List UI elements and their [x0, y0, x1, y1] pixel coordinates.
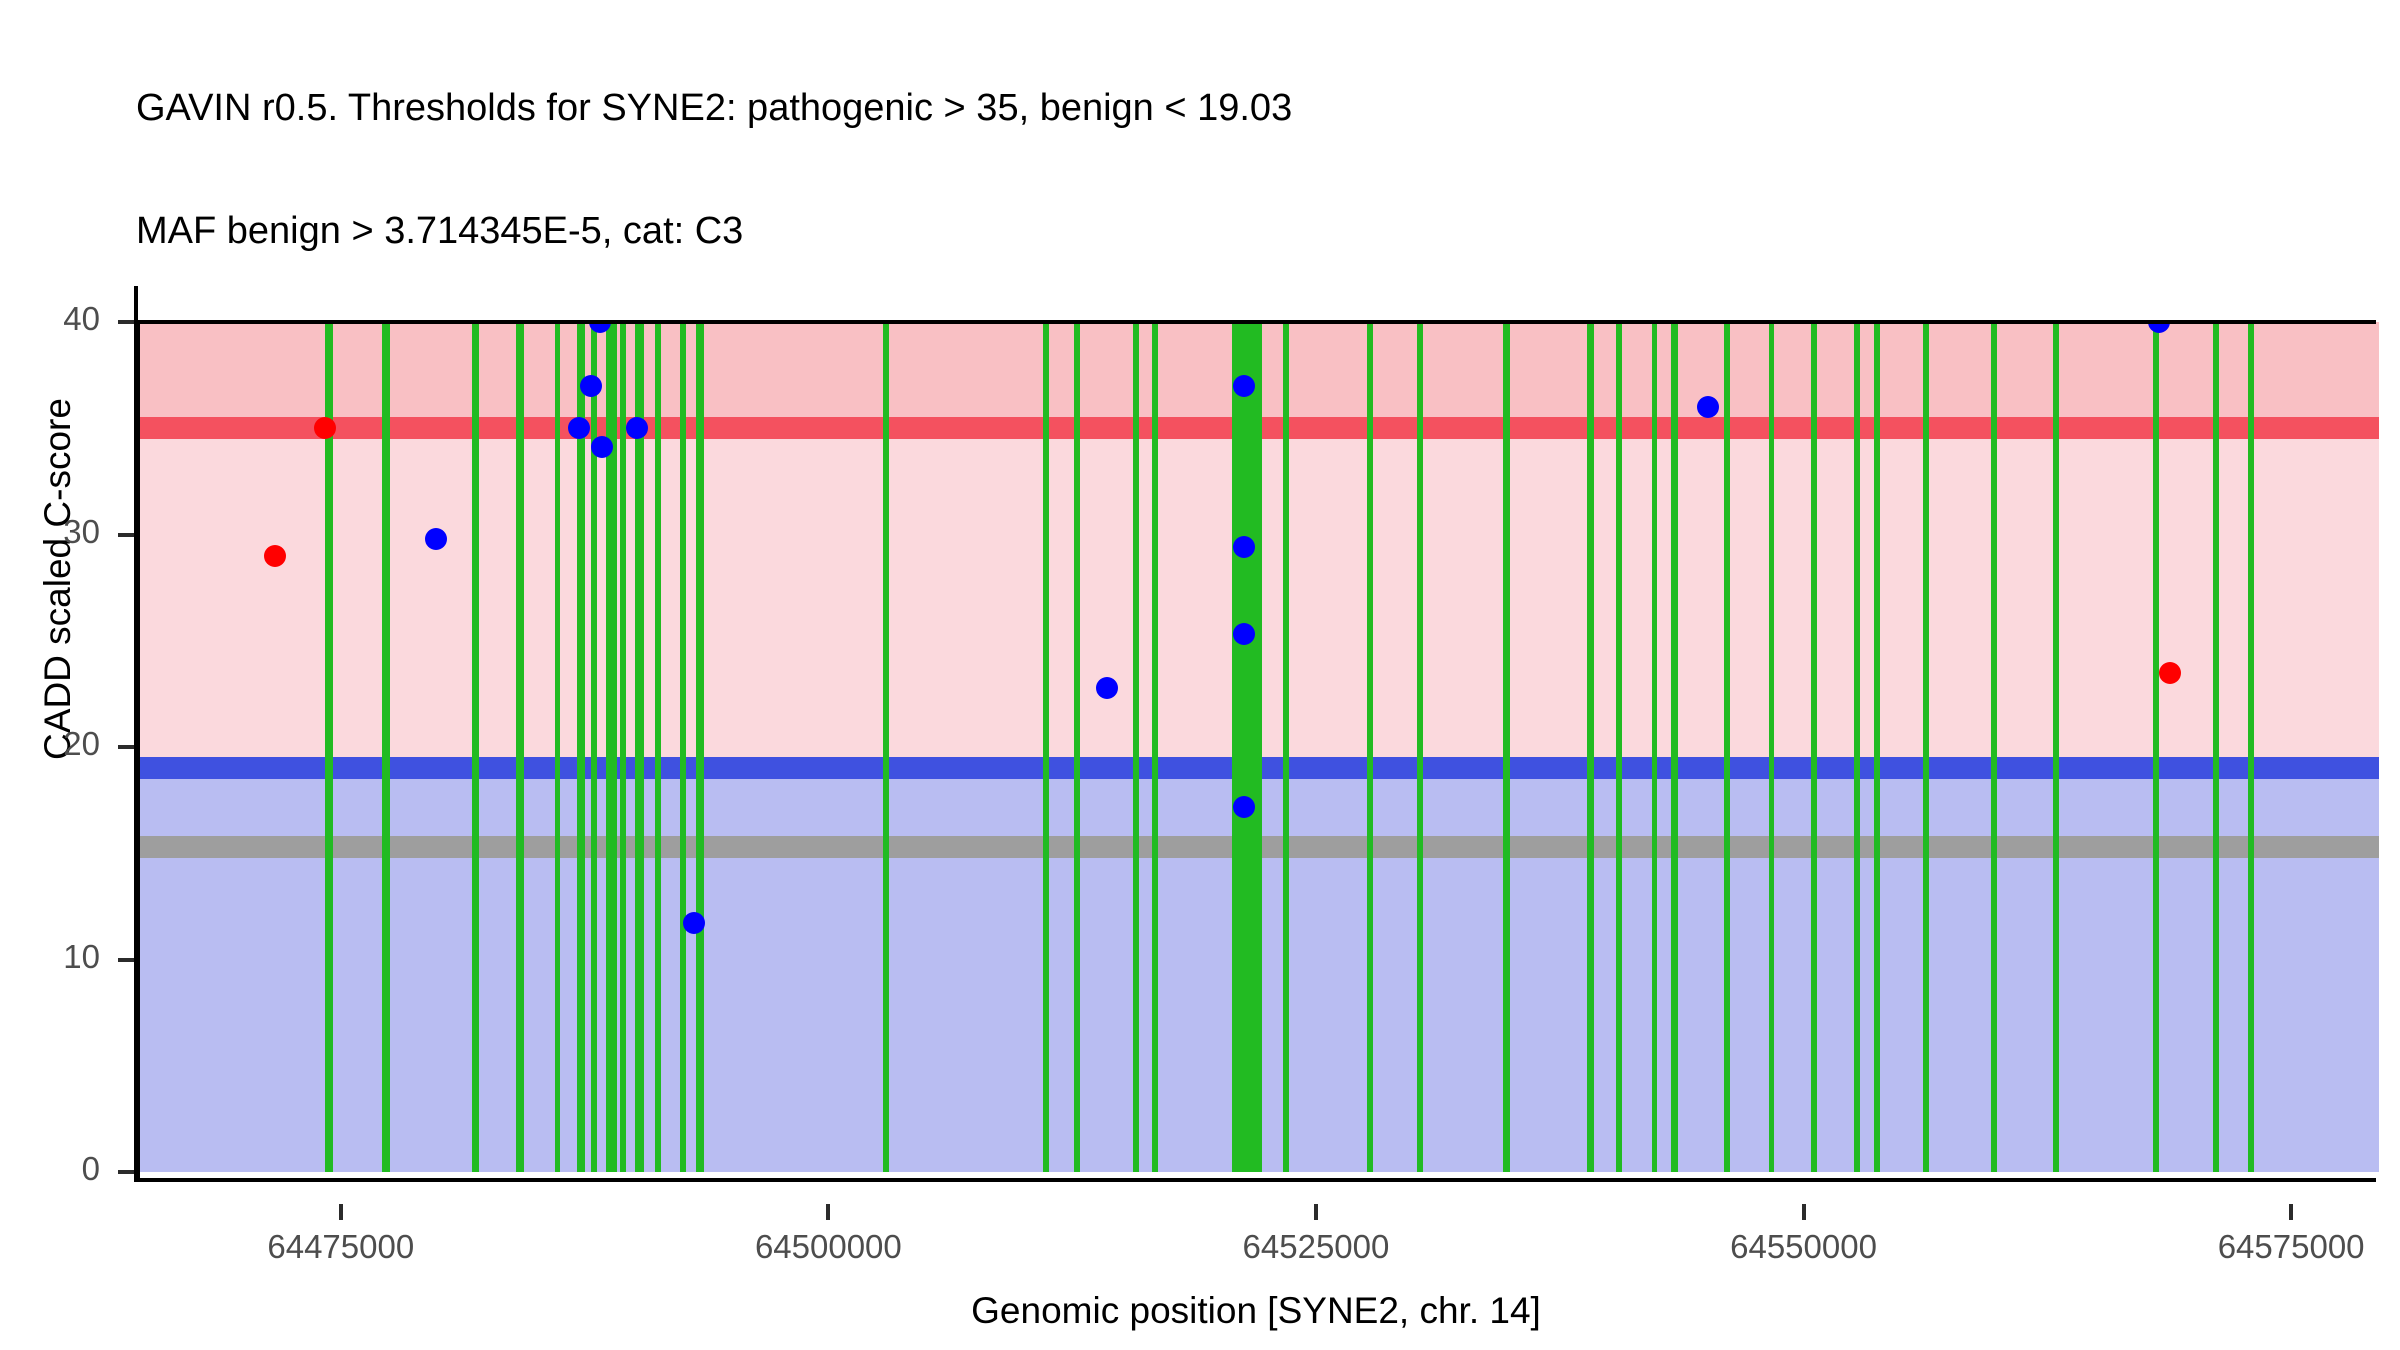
- gnomad-variant-point: [1233, 375, 1255, 397]
- x-axis-tick: [1314, 1204, 1318, 1220]
- y-axis-tick: [118, 320, 134, 324]
- exon-marker: [1769, 322, 1775, 1172]
- title-line-1: GAVIN r0.5. Thresholds for SYNE2: pathog…: [136, 88, 2336, 129]
- exon-marker: [1283, 322, 1289, 1172]
- y-axis-tick-label: 10: [0, 938, 100, 976]
- y-axis-tick: [118, 533, 134, 537]
- y-axis-tick: [118, 958, 134, 962]
- exon-marker: [1043, 322, 1049, 1172]
- exon-marker: [655, 322, 661, 1172]
- x-axis-tick: [1802, 1204, 1806, 1220]
- plot-surface: [140, 322, 2379, 1172]
- x-axis-tick-label: 64475000: [191, 1228, 491, 1266]
- exon-marker: [1811, 322, 1817, 1172]
- exon-marker: [1616, 322, 1622, 1172]
- chart-figure: GAVIN r0.5. Thresholds for SYNE2: pathog…: [0, 0, 2400, 1350]
- y-axis-title: CADD scaled C-score: [37, 129, 79, 1029]
- exon-marker: [325, 322, 333, 1172]
- x-axis-tick: [339, 1204, 343, 1220]
- exon-marker: [1232, 322, 1262, 1172]
- panel-bottom-border: [136, 1178, 2376, 1182]
- exon-marker: [1923, 322, 1929, 1172]
- gnomad-variant-point: [1233, 796, 1255, 818]
- x-axis-title: Genomic position [SYNE2, chr. 14]: [136, 1290, 2376, 1332]
- x-axis-tick-label: 64575000: [2141, 1228, 2400, 1266]
- exon-marker: [1367, 322, 1373, 1172]
- exon-marker: [577, 322, 586, 1172]
- pathogenic-variant-point: [264, 545, 286, 567]
- x-axis-tick-label: 64525000: [1166, 1228, 1466, 1266]
- title-line-2: MAF benign > 3.714345E-5, cat: C3: [136, 211, 2336, 252]
- gnomad-variant-point: [1233, 536, 1255, 558]
- x-axis-tick: [2289, 1204, 2293, 1220]
- y-axis-tick: [118, 745, 134, 749]
- exon-marker: [1874, 322, 1880, 1172]
- exon-marker: [680, 322, 685, 1172]
- gnomad-variant-point: [1697, 396, 1719, 418]
- exon-marker: [2053, 322, 2059, 1172]
- x-axis-tick-label: 64500000: [678, 1228, 978, 1266]
- exon-marker: [555, 322, 560, 1172]
- y-axis-tick-label: 20: [0, 725, 100, 763]
- y-axis-tick: [118, 1170, 134, 1174]
- panel-top-border: [136, 320, 2376, 324]
- pathogenic-variant-point: [2159, 662, 2181, 684]
- y-axis-tick-label: 40: [0, 300, 100, 338]
- y-axis-tick-label: 30: [0, 513, 100, 551]
- exon-marker: [472, 322, 479, 1172]
- exon-marker: [2153, 322, 2159, 1172]
- exon-marker: [382, 322, 390, 1172]
- gnomad-variant-point: [1096, 677, 1118, 699]
- exon-marker: [1133, 322, 1139, 1172]
- exon-marker: [1074, 322, 1080, 1172]
- gnomad-variant-point: [580, 375, 602, 397]
- y-axis-tick-label: 0: [0, 1150, 100, 1188]
- exon-marker: [1854, 322, 1860, 1172]
- exon-marker: [516, 322, 523, 1172]
- exon-marker: [635, 322, 643, 1172]
- exon-marker: [2213, 322, 2219, 1172]
- exon-marker: [883, 322, 889, 1172]
- exon-marker: [1503, 322, 1509, 1172]
- gnomad-variant-point: [568, 417, 590, 439]
- exon-marker: [1671, 322, 1678, 1172]
- exon-marker: [1991, 322, 1997, 1172]
- x-axis-tick-label: 64550000: [1654, 1228, 1954, 1266]
- exon-marker: [620, 322, 626, 1172]
- panel-left-border: [134, 286, 138, 1182]
- exon-marker: [2248, 322, 2254, 1172]
- exon-marker: [1587, 322, 1593, 1172]
- exon-marker: [696, 322, 704, 1172]
- exon-marker: [1152, 322, 1158, 1172]
- exon-marker: [1724, 322, 1730, 1172]
- exon-marker: [1652, 322, 1658, 1172]
- plot-panel: [136, 322, 2379, 1180]
- x-axis-tick: [826, 1204, 830, 1220]
- exon-marker: [1417, 322, 1423, 1172]
